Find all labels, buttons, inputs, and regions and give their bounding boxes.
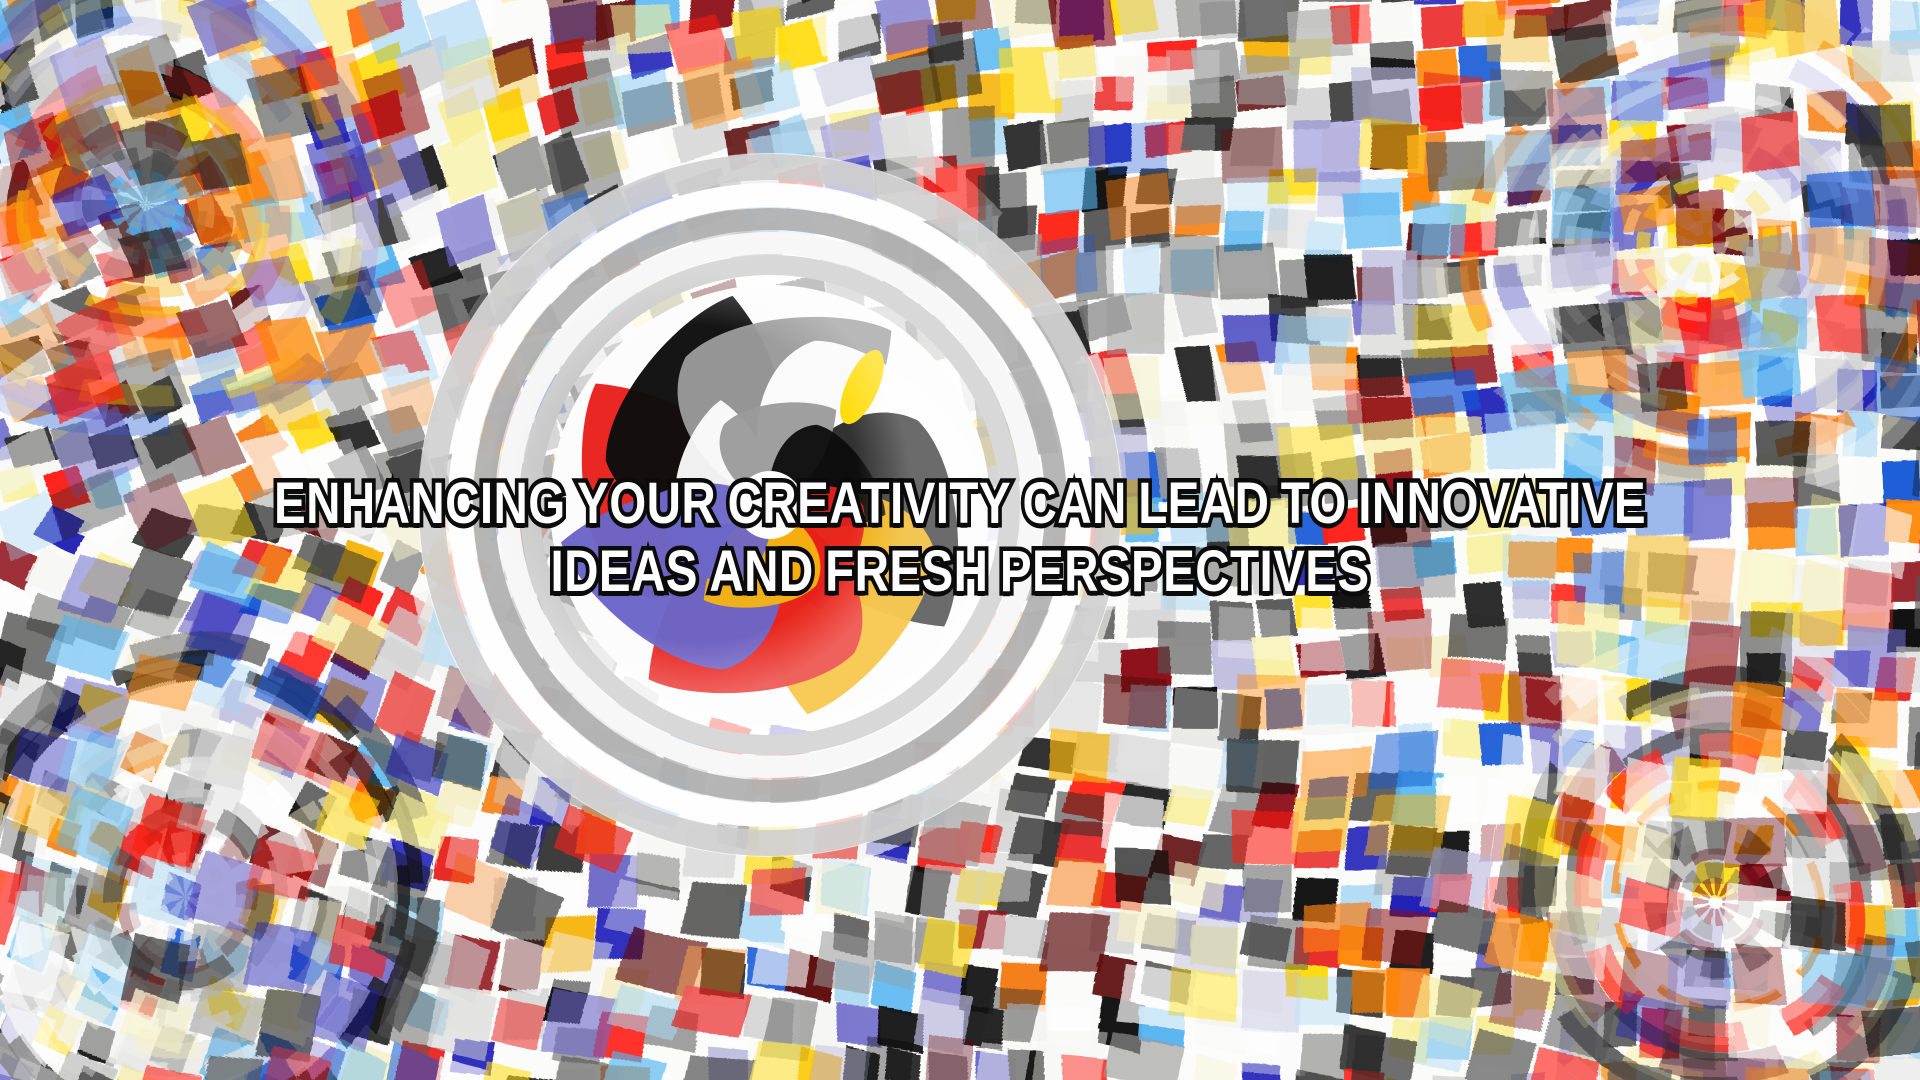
abstract-artwork-background [0,0,1920,1080]
center-medallion [418,153,1122,857]
video-frame: ENHANCINGYOURCREATIVITYCANLEADTOINNOVATI… [0,0,1920,1080]
